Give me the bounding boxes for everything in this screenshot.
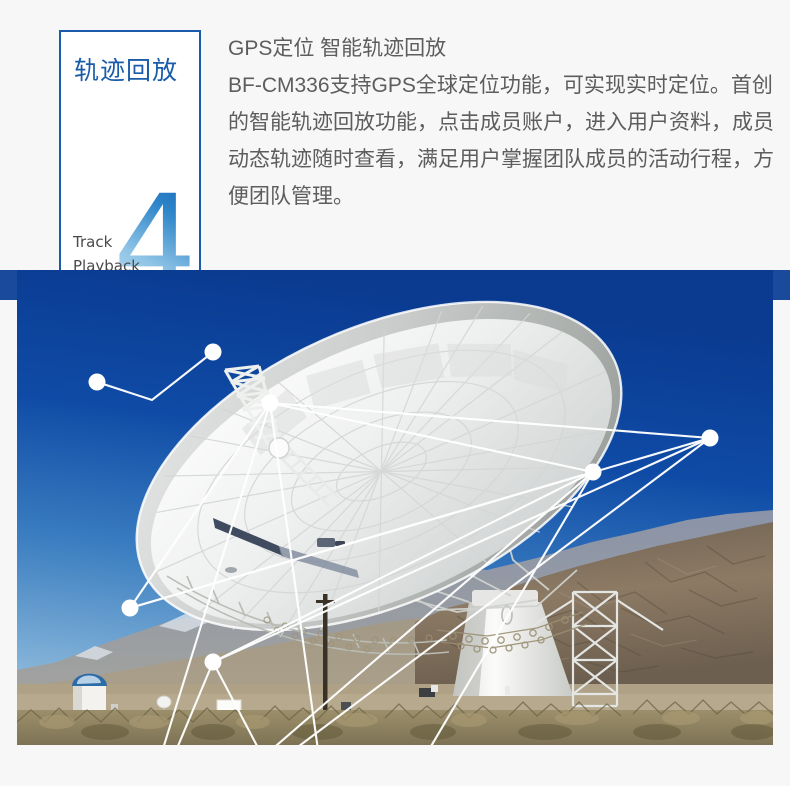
copy-heading: GPS定位 智能轨迹回放 [228,30,783,67]
observatory-building-shade [73,686,82,712]
network-node [702,430,719,447]
card-subtitle-line-1: Track [73,230,140,254]
truck-right-cab [431,685,438,692]
network-node [122,600,139,617]
valley-floor-shade [17,684,773,694]
copy-block: GPS定位 智能轨迹回放 BF-CM336支持GPS全球定位功能，可实现实时定位… [228,30,783,215]
title-card: 轨迹回放 4 Track Playback [59,30,201,296]
card-title: 轨迹回放 [74,56,178,86]
network-node [205,344,222,361]
small-marker-right [505,686,510,695]
network-node [89,374,106,391]
satellite-dish-photo [17,270,773,745]
network-node [205,654,222,671]
header-section: 轨迹回放 4 Track Playback GPS定位 智能轨迹回放 BF-CM… [0,0,790,300]
subreflector-hub [269,438,289,458]
network-node [585,464,602,481]
photo-illustration [17,270,773,745]
copy-body: BF-CM336支持GPS全球定位功能，可实现实时定位。首创的智能轨迹回放功能，… [228,67,783,215]
dish-face-marker [225,567,237,573]
network-node [262,395,279,412]
